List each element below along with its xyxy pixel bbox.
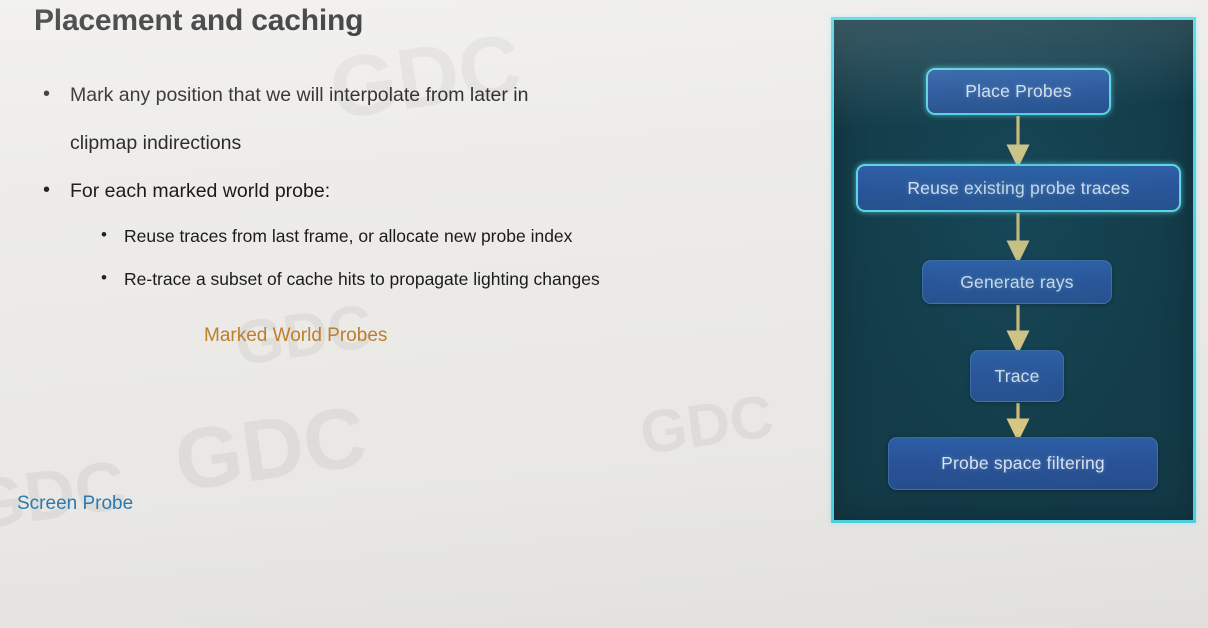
bullet-level1-text: For each marked world probe: xyxy=(70,180,330,203)
page-title: Placement and caching xyxy=(34,4,363,38)
bullet-level2-text: Re-trace a subset of cache hits to propa… xyxy=(124,269,600,290)
pipeline-node-reuse-existing-probe-traces[interactable]: Reuse existing probe traces xyxy=(856,164,1181,212)
bullet-marker: • xyxy=(43,83,50,106)
pipeline-node-label: Reuse existing probe traces xyxy=(907,178,1129,199)
bullet-marker: • xyxy=(43,179,50,202)
bullet-marker: • xyxy=(101,268,107,288)
pipeline-node-label: Trace xyxy=(994,366,1039,387)
bullet-level1-text-continued: clipmap indirections xyxy=(70,132,241,155)
pipeline-node-label: Generate rays xyxy=(960,272,1074,293)
bullet-level2-text: Reuse traces from last frame, or allocat… xyxy=(124,226,572,247)
probe-cube-diagram xyxy=(0,318,520,628)
bullet-level1-text: Mark any position that we will interpola… xyxy=(70,84,528,107)
pipeline-node-label: Place Probes xyxy=(965,81,1072,102)
pipeline-node-label: Probe space filtering xyxy=(941,453,1105,474)
watermark-text: GDC xyxy=(636,381,778,468)
probe-pipeline-panel: Place Probes Reuse existing probe traces… xyxy=(831,17,1196,523)
pipeline-node-probe-space-filtering[interactable]: Probe space filtering xyxy=(888,437,1158,490)
pipeline-node-trace[interactable]: Trace xyxy=(970,350,1064,402)
bullet-marker: • xyxy=(101,225,107,245)
pipeline-node-place-probes[interactable]: Place Probes xyxy=(926,68,1111,115)
pipeline-node-generate-rays[interactable]: Generate rays xyxy=(922,260,1112,304)
